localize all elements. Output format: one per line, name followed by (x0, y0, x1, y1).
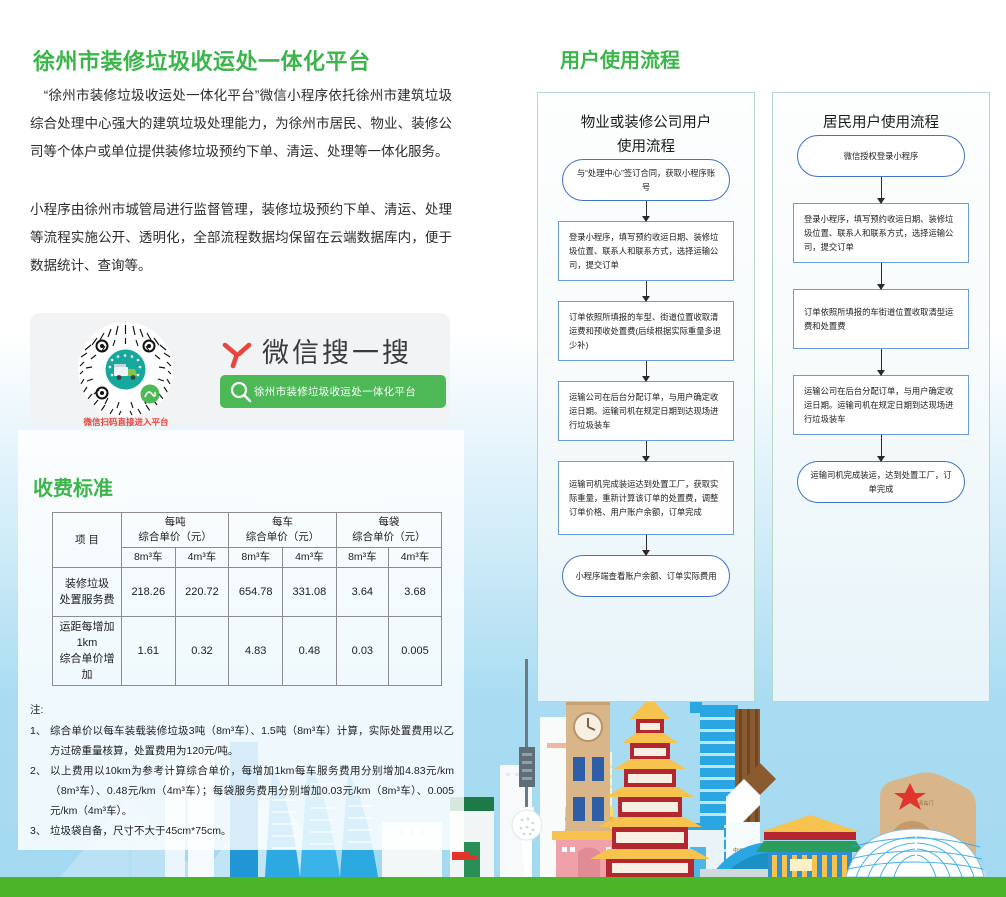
row-1-label-line2: 综合单价增加 (59, 653, 114, 681)
table-row: 装修垃圾 处置服务费 218.26 220.72 654.78 331.08 3… (53, 568, 442, 617)
flow-connector-arrow (881, 263, 882, 289)
search-keyword-button[interactable]: 徐州市装修垃圾收运处一体化平台 (220, 375, 446, 408)
header-group-2-line1: 每袋 (378, 516, 399, 528)
flow-panel-0-title-line2: 使用流程 (617, 139, 675, 155)
flow-node-1-0-label: 微信授权登录小程序 (798, 145, 964, 167)
flow-panel-1-title-line1: 居民用户使用流程 (823, 115, 939, 131)
header-group-0-line1: 每吨 (165, 516, 186, 528)
note-0-index: 1、 (30, 721, 50, 761)
qr-caption: 微信扫码直接进入平台 (57, 416, 195, 428)
row-0-label: 装修垃圾 处置服务费 (53, 568, 122, 617)
wechat-miniprogram-qr-code[interactable] (78, 322, 173, 417)
flow-node-1-4-label: 运输司机完成装运，达到处置工厂，订单完成 (798, 464, 964, 500)
header-group-1-line1: 每车 (272, 516, 293, 528)
flow-connector-arrow (646, 361, 647, 381)
subheader-3: 4m³车 (283, 548, 337, 568)
note-1-text: 以上费用以10km为参考计算综合单价，每增加1km每车服务费用分别增加4.83元… (50, 761, 454, 821)
row-0-value-5: 3.68 (388, 568, 441, 617)
left-content-column: 徐州市装修垃圾收运处一体化平台 “徐州市装修垃圾收运处一体化平台”微信小程序依托… (0, 0, 480, 877)
row-1-value-0: 1.61 (121, 617, 175, 686)
row-1-value-4: 0.03 (336, 617, 388, 686)
subheader-5: 4m³车 (388, 548, 441, 568)
flow-panel-0-title-line1: 物业或装修公司用户 (581, 115, 712, 131)
flow-node-0-2-label: 订单依照所填报的车型、街道位置收取清运费和预收处置费(后续根据实际重量多退少补) (559, 306, 733, 356)
flow-node-1-1-label: 登录小程序，填写预约收运日期、装修垃圾位置、联系人和联系方式，选择运输公司，提交… (794, 208, 968, 258)
flow-panel-1-title: 居民用户使用流程 (773, 111, 989, 135)
flow-node-1-2-label: 订单依照所填报的车街道位置收取清型运费和处置费 (794, 301, 968, 337)
note-item: 2、 以上费用以10km为参考计算综合单价，每增加1km每车服务费用分别增加4.… (30, 761, 454, 821)
flow-node-0-4: 运输司机完成装运达到处置工厂，获取实际重量，重新计算该订单的处置费，调整订单价格… (558, 461, 734, 535)
flow-panel-resident: 居民用户使用流程 微信授权登录小程序登录小程序，填写预约收运日期、装修垃圾位置、… (772, 92, 990, 702)
row-0-label-line1: 装修垃圾 (65, 578, 109, 590)
flow-node-0-4-label: 运输司机完成装运达到处置工厂，获取实际重量，重新计算该订单的处置费，调整订单价格… (559, 473, 733, 523)
subheader-1: 4m³车 (175, 548, 229, 568)
search-keyword-label: 徐州市装修垃圾收运处一体化平台 (254, 384, 416, 399)
row-1-value-3: 0.48 (283, 617, 337, 686)
subheader-4: 8m³车 (336, 548, 388, 568)
intro-paragraph-2: 小程序由徐州市城管局进行监督管理，装修垃圾预约下单、清运、处理等流程实施公开、透… (30, 196, 452, 280)
flow-connector-arrow (646, 201, 647, 221)
flow-connector-arrow (881, 177, 882, 203)
flow-node-list-0: 与“处理中心”签订合同，获取小程序账号登录小程序，填写预约收运日期、装修垃圾位置… (538, 159, 754, 597)
row-1-value-5: 0.005 (388, 617, 441, 686)
notes-heading: 注: (30, 700, 454, 720)
flow-panel-property-company: 物业或装修公司用户 使用流程 与“处理中心”签订合同，获取小程序账号登录小程序，… (537, 92, 755, 702)
header-group-2: 每袋 综合单价（元） (336, 513, 441, 548)
fee-notes: 注: 1、 综合单价以每车装载装修垃圾3吨（8m³车）、1.5吨（8m³车）计算… (30, 700, 454, 841)
row-0-value-4: 3.64 (336, 568, 388, 617)
intro-paragraph-1: “徐州市装修垃圾收运处一体化平台”微信小程序依托徐州市建筑垃圾综合处理中心强大的… (30, 82, 452, 166)
note-item: 1、 综合单价以每车装载装修垃圾3吨（8m³车）、1.5吨（8m³车）计算，实际… (30, 721, 454, 761)
row-1-label-line1: 运距每增加1km (59, 621, 114, 649)
flow-section-title: 用户使用流程 (560, 44, 680, 73)
flow-node-1-3-label: 运输公司在后台分配订单，与用户确定收运日期。运输司机在规定日期到达现场进行垃圾装… (794, 380, 968, 430)
note-0-text: 综合单价以每车装载装修垃圾3吨（8m³车）、1.5吨（8m³车）计算，实际处置费… (50, 721, 454, 761)
wechat-entry-card: 微信扫码直接进入平台 微信搜一搜 徐州市装修垃圾收运处一体化平台 (30, 313, 450, 426)
flow-node-1-0: 微信授权登录小程序 (797, 135, 965, 177)
note-1-index: 2、 (30, 761, 50, 821)
table-row: 运距每增加1km 综合单价增加 1.61 0.32 4.83 0.48 0.03… (53, 617, 442, 686)
flow-node-1-2: 订单依照所填报的车街道位置收取清型运费和处置费 (793, 289, 969, 349)
row-1-value-2: 4.83 (229, 617, 283, 686)
flow-connector-arrow (881, 435, 882, 461)
header-group-0: 每吨 综合单价（元） (121, 513, 228, 548)
header-group-1: 每车 综合单价（元） (229, 513, 336, 548)
header-group-2-line2: 综合单价（元） (352, 531, 426, 543)
row-0-value-3: 331.08 (283, 568, 337, 617)
subheader-0: 8m³车 (121, 548, 175, 568)
row-0-label-line2: 处置服务费 (59, 594, 114, 606)
page-title: 徐州市装修垃圾收运处一体化平台 (33, 44, 371, 76)
flow-connector-arrow (881, 349, 882, 375)
flow-node-0-0: 与“处理中心”签订合同，获取小程序账号 (562, 159, 730, 201)
row-1-value-1: 0.32 (175, 617, 229, 686)
right-flow-column: 用户使用流程 物业或装修公司用户 使用流程 与“处理中心”签订合同，获取小程序账… (480, 0, 1006, 877)
note-item: 3、 垃圾袋自备，尺寸不大于45cm*75cm。 (30, 821, 454, 841)
flow-node-1-4: 运输司机完成装运，达到处置工厂，订单完成 (797, 461, 965, 503)
flow-node-1-1: 登录小程序，填写预约收运日期、装修垃圾位置、联系人和联系方式，选择运输公司，提交… (793, 203, 969, 263)
row-1-label: 运距每增加1km 综合单价增加 (53, 617, 122, 686)
wechat-search-logo (220, 337, 254, 371)
flow-connector-arrow (646, 441, 647, 461)
flow-node-0-1-label: 登录小程序，填写预约收运日期、装修垃圾位置、联系人和联系方式，选择运输公司，提交… (559, 226, 733, 276)
flow-node-0-3-label: 运输公司在后台分配订单，与用户确定收运日期。运输司机在规定日期到达现场进行垃圾装… (559, 386, 733, 436)
search-icon (228, 379, 254, 405)
subheader-2: 8m³车 (229, 548, 283, 568)
flow-node-0-3: 运输公司在后台分配订单，与用户确定收运日期。运输司机在规定日期到达现场进行垃圾装… (558, 381, 734, 441)
row-0-value-2: 654.78 (229, 568, 283, 617)
flow-node-0-0-label: 与“处理中心”签订合同，获取小程序账号 (563, 162, 729, 198)
row-0-value-0: 218.26 (121, 568, 175, 617)
flow-node-0-1: 登录小程序，填写预约收运日期、装修垃圾位置、联系人和联系方式，选择运输公司，提交… (558, 221, 734, 281)
flow-connector-arrow (646, 535, 647, 555)
row-0-value-1: 220.72 (175, 568, 229, 617)
fee-section-title: 收费标准 (33, 472, 113, 501)
footer-green-bar (0, 877, 1006, 897)
wechat-search-label: 微信搜一搜 (262, 331, 412, 370)
flow-node-0-5-label: 小程序端查看账户余额、订单实际费用 (563, 565, 729, 587)
note-2-index: 3、 (30, 821, 50, 841)
flow-node-1-3: 运输公司在后台分配订单，与用户确定收运日期。运输司机在规定日期到达现场进行垃圾装… (793, 375, 969, 435)
flow-node-0-5: 小程序端查看账户余额、订单实际费用 (562, 555, 730, 597)
flow-node-list-1: 微信授权登录小程序登录小程序，填写预约收运日期、装修垃圾位置、联系人和联系方式，… (773, 135, 989, 503)
header-group-1-line2: 综合单价（元） (246, 531, 320, 543)
note-2-text: 垃圾袋自备，尺寸不大于45cm*75cm。 (50, 821, 454, 841)
table-header-row-1: 项 目 每吨 综合单价（元） 每车 综合单价（元） 每袋 综合单价（元） (53, 513, 442, 548)
flow-panel-0-title: 物业或装修公司用户 使用流程 (538, 111, 754, 159)
fee-standard-table: 项 目 每吨 综合单价（元） 每车 综合单价（元） 每袋 综合单价（元） 8m³… (52, 512, 442, 686)
flow-connector-arrow (646, 281, 647, 301)
header-group-0-line2: 综合单价（元） (138, 531, 212, 543)
flow-node-0-2: 订单依照所填报的车型、街道位置收取清运费和预收处置费(后续根据实际重量多退少补) (558, 301, 734, 361)
header-item: 项 目 (53, 513, 122, 568)
